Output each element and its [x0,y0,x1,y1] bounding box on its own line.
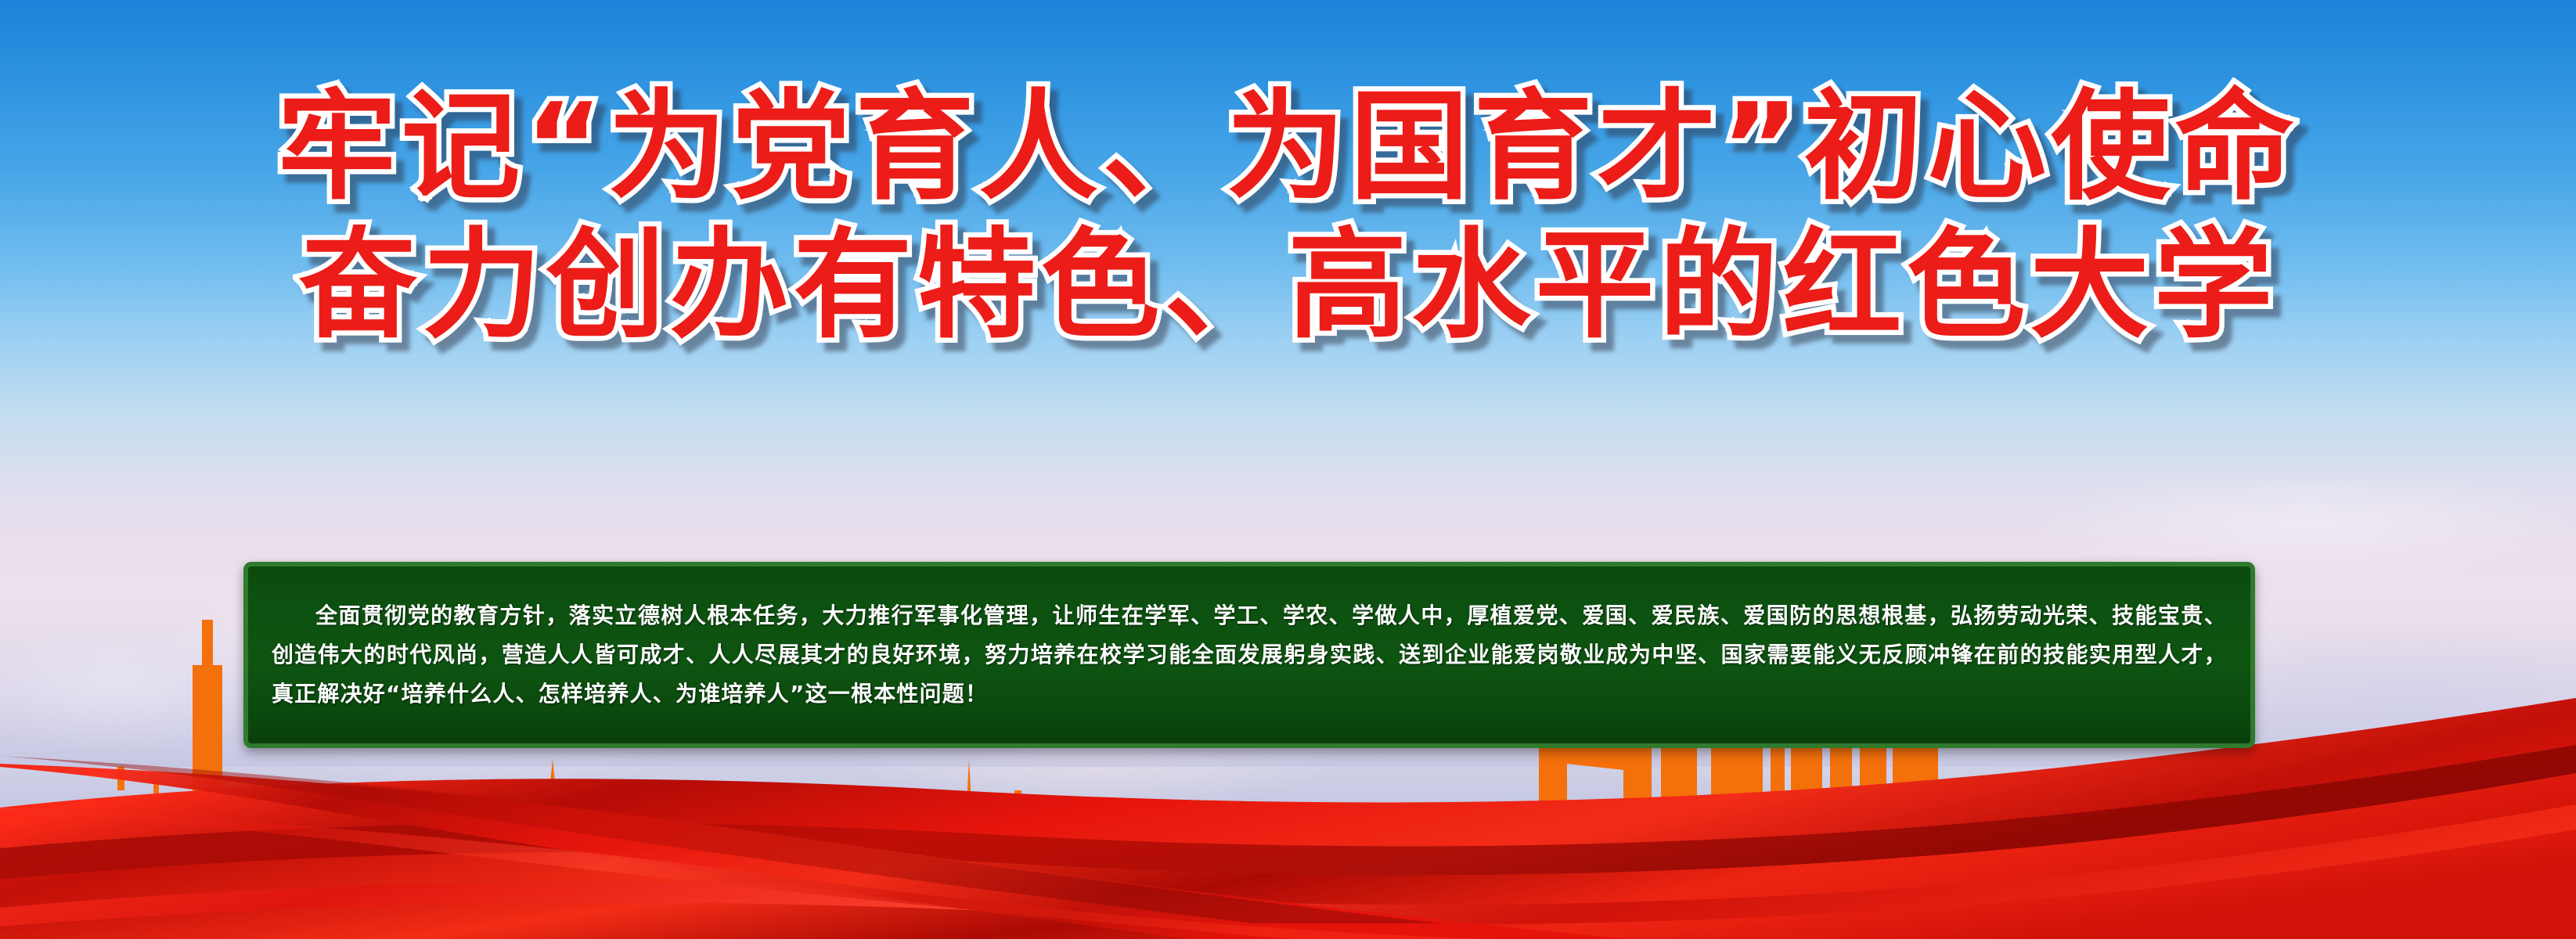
green-text-panel: 全面贯彻党的教育方针，落实立德树人根本任务，大力推行军事化管理，让师生在学军、学… [243,562,2255,748]
headline-line-1: 牢记“为党育人、为国育才”初心使命 [0,86,2576,207]
banner-poster: 牢记“为党育人、为国育才”初心使命 奋力创办有特色、高水平的红色大学 全面贯彻党… [0,0,2576,939]
headline-block: 牢记“为党育人、为国育才”初心使命 奋力创办有特色、高水平的红色大学 [0,86,2576,346]
headline-line-2: 奋力创办有特色、高水平的红色大学 [0,225,2576,346]
panel-body-text: 全面贯彻党的教育方针，落实立德树人根本任务，大力推行军事化管理，让师生在学军、学… [272,596,2227,714]
